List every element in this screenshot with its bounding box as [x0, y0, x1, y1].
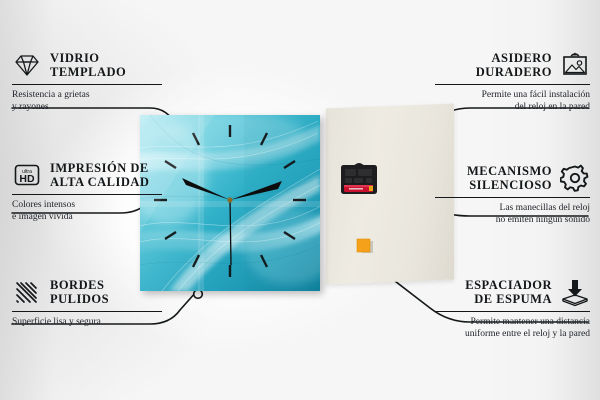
feature-header: VIDRIO TEMPLADO	[12, 50, 162, 80]
diamond-icon	[12, 50, 42, 80]
foam-spacer-icon	[560, 277, 590, 307]
feature-description: Resistencia a grietas y rayones	[12, 90, 162, 113]
feature-description: Las manecillas del reloj no emiten ningú…	[435, 203, 590, 226]
divider	[12, 84, 162, 85]
picture-hanger-icon	[560, 50, 590, 80]
divider	[12, 194, 162, 195]
gear-icon	[560, 163, 590, 193]
foam-spacer	[356, 238, 374, 256]
feature-asidero-duradero: ASIDERO DURADERO Permite una fácil insta…	[435, 50, 590, 113]
feature-title: ASIDERO DURADERO	[476, 51, 552, 79]
infographic-canvas: VIDRIO TEMPLADO Resistencia a grietas y …	[0, 0, 600, 400]
feature-title: MECANISMO SILENCIOSO	[467, 164, 552, 192]
divider	[435, 84, 590, 85]
feature-description: Permite mantener una distancia uniforme …	[435, 317, 590, 340]
feature-impresion-alta-calidad: ultra HD IMPRESIÓN DE ALTA CALIDAD Color…	[12, 160, 162, 223]
divider	[435, 311, 590, 312]
divider	[435, 197, 590, 198]
feature-header: BORDES PULIDOS	[12, 277, 162, 307]
feature-header: MECANISMO SILENCIOSO	[435, 163, 590, 193]
feature-mecanismo-silencioso: MECANISMO SILENCIOSO Las manecillas del …	[435, 163, 590, 226]
divider	[12, 311, 162, 312]
feature-title: IMPRESIÓN DE ALTA CALIDAD	[50, 161, 149, 189]
feature-title: ESPACIADOR DE ESPUMA	[465, 278, 552, 306]
feature-description: Superficie lisa y segura	[12, 317, 162, 329]
feature-description: Colores intensos e imagen vívida	[12, 200, 162, 223]
feature-description: Permite una fácil instalación del reloj …	[435, 90, 590, 113]
ultra-hd-icon: ultra HD	[12, 160, 42, 190]
feature-title: BORDES PULIDOS	[50, 278, 109, 306]
feature-title: VIDRIO TEMPLADO	[50, 51, 126, 79]
ultra-hd-large-label: HD	[19, 173, 35, 185]
clock-mechanism	[339, 160, 379, 196]
feature-header: ultra HD IMPRESIÓN DE ALTA CALIDAD	[12, 160, 162, 190]
feature-espaciador-espuma: ESPACIADOR DE ESPUMA Permite mantener un…	[435, 277, 590, 340]
feature-header: ESPACIADOR DE ESPUMA	[435, 277, 590, 307]
product-image	[128, 100, 448, 310]
feature-bordes-pulidos: BORDES PULIDOS Superficie lisa y segura	[12, 277, 162, 329]
polished-edge-icon	[12, 277, 42, 307]
feature-header: ASIDERO DURADERO	[435, 50, 590, 80]
feature-vidrio-templado: VIDRIO TEMPLADO Resistencia a grietas y …	[12, 50, 162, 113]
clock-face	[140, 115, 320, 291]
